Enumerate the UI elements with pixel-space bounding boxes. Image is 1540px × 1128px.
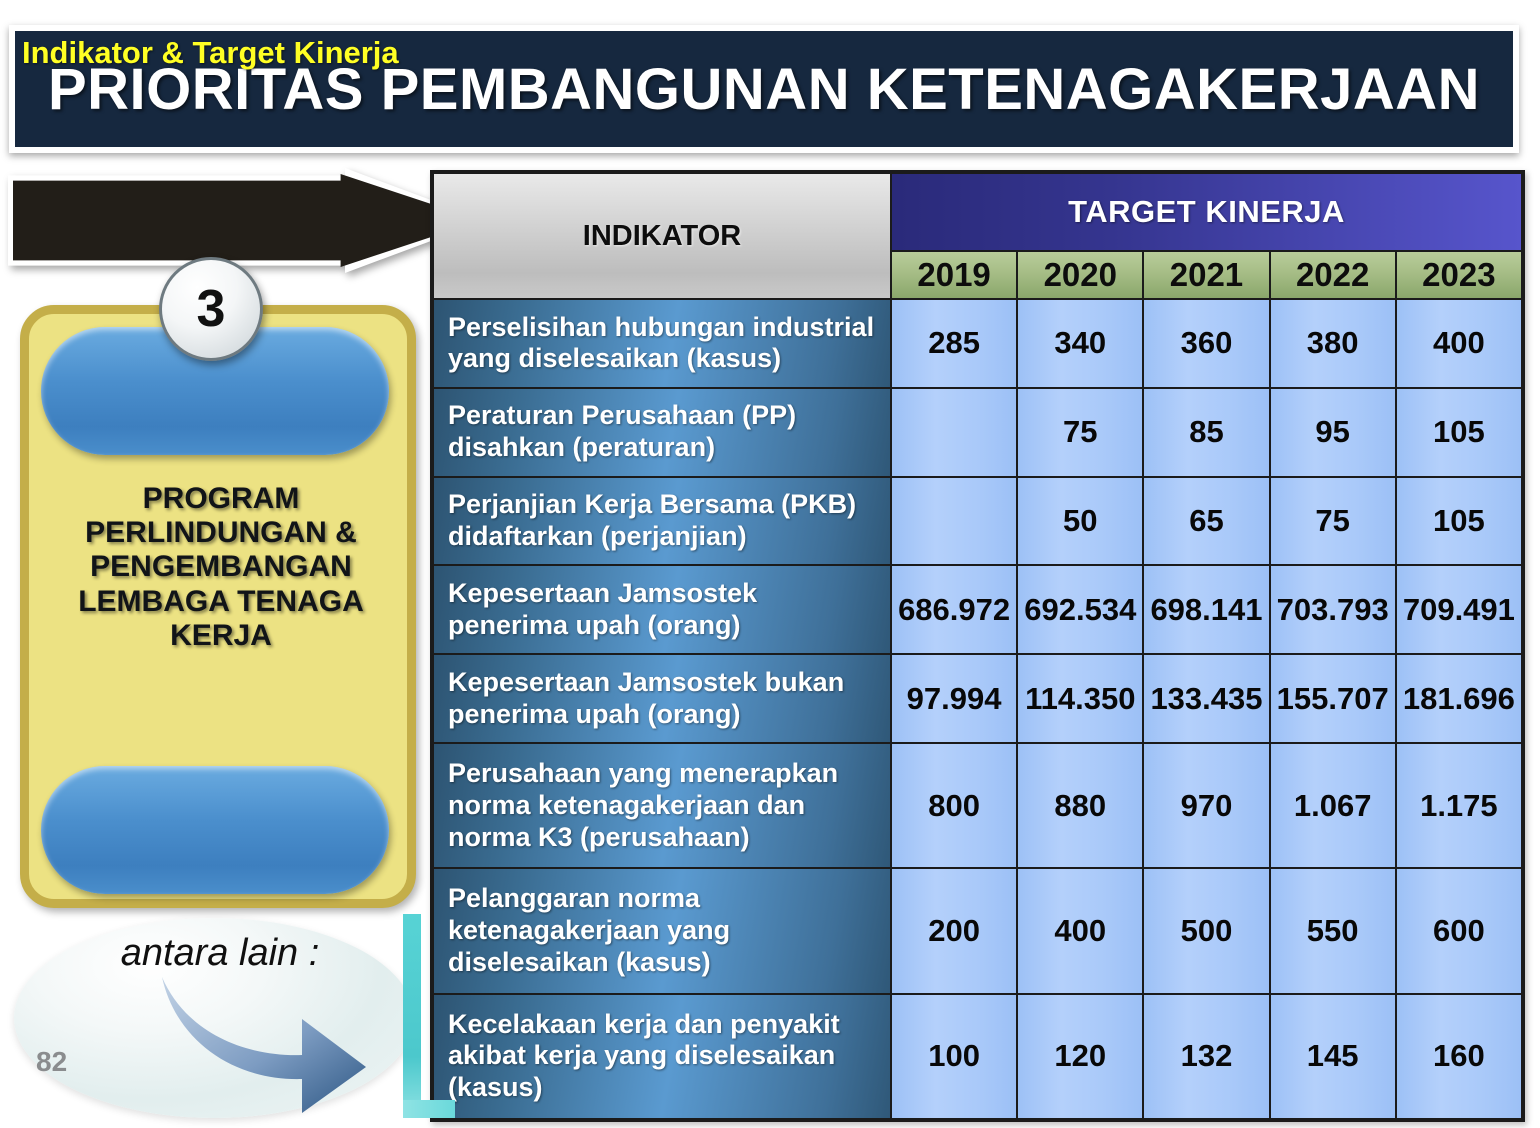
cell-indicator: Perselisihan hubungan industrial yang di… — [433, 299, 891, 388]
cell-value-2021: 360 — [1143, 299, 1269, 388]
table-row: Pelanggaran norma ketenagakerjaan yang d… — [433, 868, 1522, 993]
cell-value-2022: 380 — [1270, 299, 1396, 388]
teal-accent-foot — [403, 1100, 455, 1118]
footer-note: antara lain : — [60, 932, 380, 975]
table-row: Perjanjian Kerja Bersama (PKB) didaftark… — [433, 477, 1522, 566]
cell-value-2019: 800 — [891, 743, 1017, 868]
cell-value-2019: 686.972 — [891, 565, 1017, 654]
cell-value-2019 — [891, 477, 1017, 566]
cell-value-2021: 133.435 — [1143, 654, 1269, 743]
cell-value-2019 — [891, 388, 1017, 477]
cell-value-2023: 1.175 — [1396, 743, 1522, 868]
cell-value-2020: 75 — [1017, 388, 1143, 477]
cell-value-2020: 340 — [1017, 299, 1143, 388]
cell-indicator: Kepesertaan Jamsostek penerima upah (ora… — [433, 565, 891, 654]
cell-value-2020: 120 — [1017, 994, 1143, 1119]
card-pill-bottom — [41, 766, 389, 894]
cell-value-2023: 181.696 — [1396, 654, 1522, 743]
cell-value-2020: 692.534 — [1017, 565, 1143, 654]
cell-value-2023: 709.491 — [1396, 565, 1522, 654]
column-header-year-2019: 2019 — [891, 251, 1017, 299]
table-row: Kepesertaan Jamsostek bukan penerima upa… — [433, 654, 1522, 743]
priority-number-value: 3 — [197, 279, 226, 339]
cell-value-2023: 600 — [1396, 868, 1522, 993]
table-row: Perselisihan hubungan industrial yang di… — [433, 299, 1522, 388]
cell-value-2023: 400 — [1396, 299, 1522, 388]
table-body: Perselisihan hubungan industrial yang di… — [433, 299, 1522, 1119]
cell-value-2023: 105 — [1396, 477, 1522, 566]
cell-value-2022: 1.067 — [1270, 743, 1396, 868]
indicator-target-table: INDIKATOR TARGET KINERJA 2019 2020 2021 … — [430, 170, 1525, 1122]
table-row: Perusahaan yang menerapkan norma ketenag… — [433, 743, 1522, 868]
section-banner-label: Indikator & Target Kinerja — [22, 0, 352, 105]
cell-indicator: Peraturan Perusahaan (PP) disahkan (pera… — [433, 388, 891, 477]
cell-value-2022: 145 — [1270, 994, 1396, 1119]
curved-arrow-icon — [160, 975, 370, 1115]
cell-indicator: Kecelakaan kerja dan penyakit akibat ker… — [433, 994, 891, 1119]
cell-value-2023: 160 — [1396, 994, 1522, 1119]
cell-value-2022: 155.707 — [1270, 654, 1396, 743]
cell-value-2021: 970 — [1143, 743, 1269, 868]
cell-value-2019: 97.994 — [891, 654, 1017, 743]
cell-value-2023: 105 — [1396, 388, 1522, 477]
column-header-year-2023: 2023 — [1396, 251, 1522, 299]
banner-fill — [13, 173, 481, 268]
cell-value-2022: 703.793 — [1270, 565, 1396, 654]
section-banner-arrow — [8, 168, 486, 273]
cell-value-2022: 75 — [1270, 477, 1396, 566]
cell-value-2021: 500 — [1143, 868, 1269, 993]
cell-value-2019: 285 — [891, 299, 1017, 388]
cell-value-2019: 100 — [891, 994, 1017, 1119]
teal-accent-bar — [403, 914, 421, 1118]
cell-value-2022: 550 — [1270, 868, 1396, 993]
cell-value-2020: 400 — [1017, 868, 1143, 993]
table-row: Kecelakaan kerja dan penyakit akibat ker… — [433, 994, 1522, 1119]
cell-value-2021: 132 — [1143, 994, 1269, 1119]
page-number: 82 — [36, 1046, 67, 1078]
column-header-year-2020: 2020 — [1017, 251, 1143, 299]
cell-indicator: Kepesertaan Jamsostek bukan penerima upa… — [433, 654, 891, 743]
cell-value-2021: 698.141 — [1143, 565, 1269, 654]
cell-value-2020: 114.350 — [1017, 654, 1143, 743]
table-header-row-1: INDIKATOR TARGET KINERJA — [433, 173, 1522, 251]
table-row: Peraturan Perusahaan (PP) disahkan (pera… — [433, 388, 1522, 477]
column-header-year-2021: 2021 — [1143, 251, 1269, 299]
cell-value-2021: 65 — [1143, 477, 1269, 566]
cell-value-2020: 880 — [1017, 743, 1143, 868]
cell-value-2020: 50 — [1017, 477, 1143, 566]
program-title: PROGRAM PERLINDUNGAN & PENGEMBANGAN LEMB… — [36, 482, 406, 653]
column-header-indikator: INDIKATOR — [433, 173, 891, 299]
slide-canvas: PRIORITAS PEMBANGUNAN KETENAGAKERJAAN In… — [0, 0, 1540, 1128]
cell-indicator: Pelanggaran norma ketenagakerjaan yang d… — [433, 868, 891, 993]
cell-indicator: Perjanjian Kerja Bersama (PKB) didaftark… — [433, 477, 891, 566]
column-header-target-kinerja: TARGET KINERJA — [891, 173, 1522, 251]
cell-value-2019: 200 — [891, 868, 1017, 993]
cell-indicator: Perusahaan yang menerapkan norma ketenag… — [433, 743, 891, 868]
cell-value-2021: 85 — [1143, 388, 1269, 477]
column-header-year-2022: 2022 — [1270, 251, 1396, 299]
table-row: Kepesertaan Jamsostek penerima upah (ora… — [433, 565, 1522, 654]
cell-value-2022: 95 — [1270, 388, 1396, 477]
priority-number-badge: 3 — [159, 257, 263, 361]
